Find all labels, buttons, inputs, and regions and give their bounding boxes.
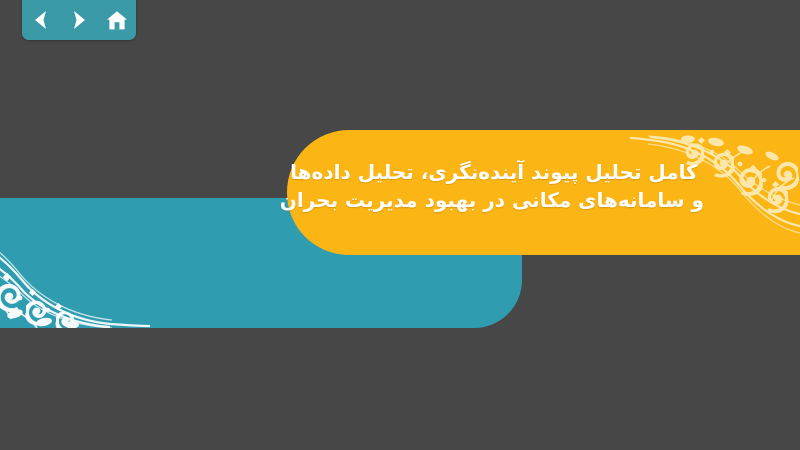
yellow-banner <box>287 130 800 255</box>
previous-slide-button[interactable] <box>26 5 56 35</box>
arabesque-corner-ornament-teal <box>0 198 150 328</box>
next-slide-button[interactable] <box>64 5 94 35</box>
slide-navigation-toolbar <box>22 0 136 40</box>
triangle-left-icon <box>32 10 50 30</box>
home-icon <box>106 10 128 31</box>
home-button[interactable] <box>102 5 132 35</box>
presentation-slide: کامل تحلیل پیوند آینده‌نگری، تحلیل داده‌… <box>0 0 800 450</box>
arabesque-corner-ornament-yellow <box>630 130 800 248</box>
triangle-right-icon <box>70 10 88 30</box>
